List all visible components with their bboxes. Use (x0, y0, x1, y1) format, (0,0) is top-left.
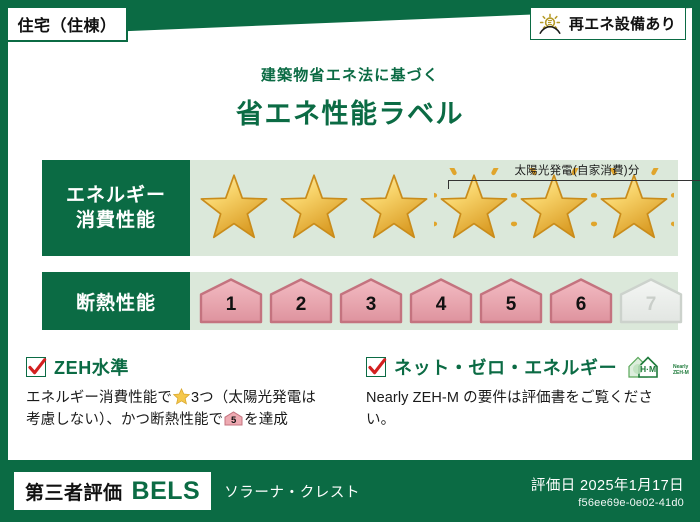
energy-label-line1: エネルギー (66, 183, 166, 208)
check-icon (26, 355, 48, 379)
net-zero-description: Nearly ZEH-M の要件は評価書をご覧ください。 (366, 387, 674, 432)
star-icon (275, 169, 353, 247)
insulation-performance-body: 1234567 (190, 272, 678, 330)
zeh-text-before-star: エネルギー消費性能で (26, 390, 172, 406)
star-icon (355, 169, 433, 247)
title-block: 建築物省エネ法に基づく 省エネ性能ラベル (8, 64, 692, 131)
sun-icon (537, 12, 563, 36)
nearly-zeh-m-logo-icon: H·M Nearly ZEH-M (627, 354, 689, 380)
insulation-level-number: 1 (198, 294, 264, 316)
zeh-standard-heading-row: ZEH水準 (26, 354, 330, 380)
insulation-performance-row: 断熱性能 1234567 (42, 272, 678, 330)
insulation-label-text: 断熱性能 (76, 288, 156, 315)
zeh-standard-checkbox (26, 357, 46, 377)
subtitle: 建築物省エネ法に基づく (8, 64, 692, 85)
energy-performance-label-card: 住宅（住棟） 再エネ設備あり 建築物省エネ法に基づく 省エネ性能ラベル (0, 0, 700, 522)
net-zero-heading-row: ネット・ゼロ・エネルギー H·M Nearly ZEH-M (366, 354, 674, 380)
star-icon (195, 169, 273, 247)
solar-generation-annotation: 太陽光発電(自家消費)分 (448, 162, 700, 189)
zeh-standard-column: ZEH水準 エネルギー消費性能で3つ（太陽光発電は考慮しない）、かつ断熱性能で5… (8, 354, 348, 432)
star-3 (354, 168, 434, 248)
inline-house-icon: 5 (224, 411, 243, 426)
insulation-level-2: 2 (268, 277, 334, 325)
zeh-text-end: を達成 (244, 412, 288, 428)
zeh-standard-heading: ZEH水準 (54, 354, 129, 380)
svg-text:ZEH-M: ZEH-M (673, 370, 689, 376)
insulation-level-6: 6 (548, 277, 614, 325)
energy-performance-body: 太陽光発電(自家消費)分 (190, 160, 678, 256)
insulation-level-4: 4 (408, 277, 474, 325)
svg-text:H·M: H·M (640, 364, 656, 374)
inline-star-icon (173, 388, 190, 405)
insulation-level-number: 6 (548, 294, 614, 316)
zeh-standard-description: エネルギー消費性能で3つ（太陽光発電は考慮しない）、かつ断熱性能で5を達成 (26, 387, 330, 432)
energy-performance-label: エネルギー 消費性能 (42, 160, 190, 256)
check-icon (366, 355, 388, 379)
renewable-badge-label: 再エネ設備あり (569, 13, 676, 34)
building-type-tab: 住宅（住棟） (6, 6, 128, 42)
insulation-level-scale: 1234567 (198, 277, 684, 325)
evaluation-id: f56ee69e-0e02-41d0 (531, 497, 684, 509)
energy-label-line2: 消費性能 (76, 208, 156, 233)
insulation-level-number: 2 (268, 294, 334, 316)
insulation-performance-label: 断熱性能 (42, 272, 190, 330)
third-party-label: 第三者評価 (25, 478, 123, 505)
inline-house-level: 5 (224, 414, 243, 429)
bels-label: BELS (132, 477, 201, 506)
renewable-equipment-badge: 再エネ設備あり (530, 7, 686, 40)
evaluation-date: 評価日 2025年1月17日 (531, 474, 684, 495)
net-zero-checkbox (366, 357, 386, 377)
energy-performance-row: エネルギー 消費性能 太陽光発電(自家消費)分 (42, 160, 678, 256)
footer-bar: 第三者評価 BELS ソラーナ・クレスト 評価日 2025年1月17日 f56e… (0, 460, 700, 522)
insulation-level-7: 7 (618, 277, 684, 325)
star-2 (274, 168, 354, 248)
insulation-level-number: 4 (408, 294, 474, 316)
criteria-columns: ZEH水準 エネルギー消費性能で3つ（太陽光発電は考慮しない）、かつ断熱性能で5… (8, 354, 692, 432)
card-inner: 住宅（住棟） 再エネ設備あり 建築物省エネ法に基づく 省エネ性能ラベル (8, 8, 692, 514)
building-name: ソラーナ・クレスト (224, 481, 360, 502)
solar-note-text: 太陽光発電(自家消費)分 (448, 162, 700, 178)
insulation-level-number: 7 (618, 294, 684, 316)
net-zero-energy-column: ネット・ゼロ・エネルギー H·M Nearly ZEH-M Nearly ZEH… (348, 354, 692, 432)
net-zero-heading: ネット・ゼロ・エネルギー (394, 354, 617, 380)
insulation-level-number: 5 (478, 294, 544, 316)
page-title: 省エネ性能ラベル (8, 92, 692, 131)
building-type-label: 住宅（住棟） (17, 12, 116, 36)
bels-certification-box: 第三者評価 BELS (14, 472, 211, 510)
insulation-level-5: 5 (478, 277, 544, 325)
solar-bracket (448, 180, 700, 189)
insulation-level-1: 1 (198, 277, 264, 325)
insulation-level-3: 3 (338, 277, 404, 325)
insulation-level-number: 3 (338, 294, 404, 316)
evaluation-meta: 評価日 2025年1月17日 f56ee69e-0e02-41d0 (531, 474, 684, 509)
star-1 (194, 168, 274, 248)
